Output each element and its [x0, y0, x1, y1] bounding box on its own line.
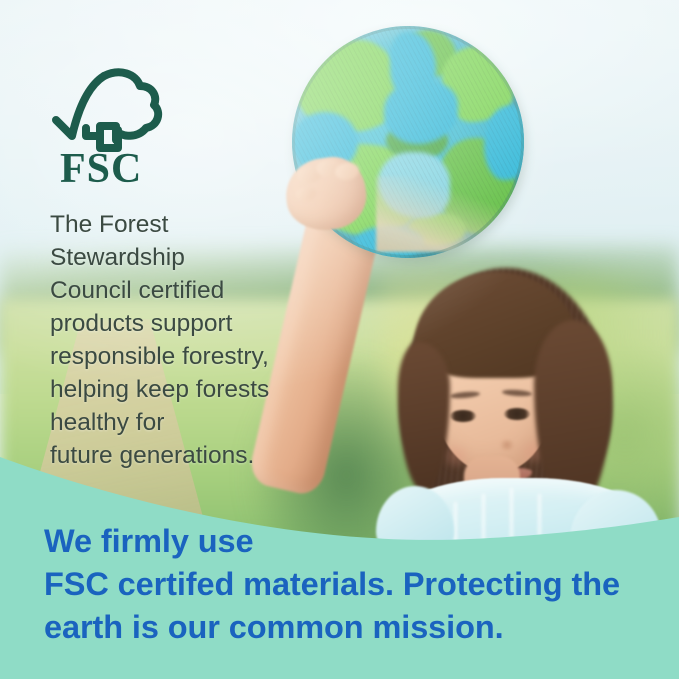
fsc-logo: FSC: [52, 64, 170, 186]
eye-left: [450, 410, 476, 422]
fsc-description-text: The Forest Stewardship Council certified…: [50, 208, 350, 472]
thumb: [295, 185, 317, 202]
eyebrow-left: [450, 391, 480, 400]
fsc-promo-card: FSC The Forest Stewardship Council certi…: [0, 0, 679, 679]
eyebrow-right: [502, 389, 532, 397]
headline-text: We firmly use FSC certifed materials. Pr…: [44, 520, 644, 649]
fsc-tree-checkmark-icon: [52, 64, 170, 152]
fsc-wordmark: FSC: [60, 148, 142, 190]
eye-right: [504, 408, 530, 420]
